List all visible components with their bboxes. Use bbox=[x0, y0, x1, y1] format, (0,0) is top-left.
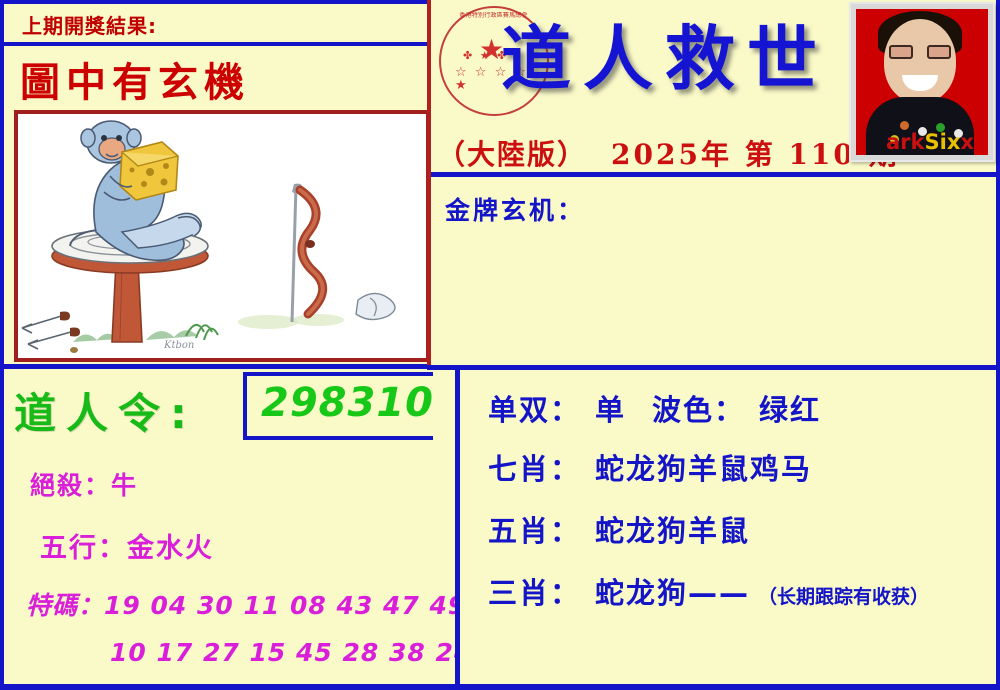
jue-sha-row: 絕殺：牛 bbox=[30, 466, 138, 502]
header-subtitle: （大陸版）2025年 第 110 期 bbox=[437, 133, 900, 172]
seven-zodiac-label: 七肖： bbox=[488, 452, 581, 486]
order-label: 道人令: bbox=[14, 380, 197, 441]
frame-right bbox=[996, 0, 1000, 690]
wu-xing-label: 五行： bbox=[40, 533, 127, 564]
prediction-row-odd-even: 单双：单波色：绿红 bbox=[488, 387, 821, 429]
special-label: 特碼： bbox=[26, 591, 104, 620]
divider-horizontal-2 bbox=[4, 364, 430, 369]
gold-tip-label: 金牌玄机： bbox=[445, 191, 585, 227]
edition-label: （大陸版） bbox=[437, 138, 587, 171]
last-draw-bar: 上期開獎結果: bbox=[4, 4, 430, 42]
three-zodiac-value: 蛇龙狗—— bbox=[595, 576, 750, 610]
monkey-mushroom-drawing: Ktbon bbox=[18, 114, 426, 358]
five-zodiac-label: 五肖： bbox=[488, 514, 581, 548]
gold-tip-panel: 金牌玄机： bbox=[431, 177, 996, 365]
three-zodiac-label: 三肖： bbox=[488, 576, 581, 610]
jue-sha-value: 牛 bbox=[111, 471, 138, 500]
odd-even-value: 单 bbox=[595, 393, 626, 427]
portrait-photo-frame: arkSixx bbox=[849, 2, 995, 162]
order-label-wrap: 道人令: bbox=[14, 380, 244, 442]
medal-dot bbox=[900, 121, 909, 130]
glasses-icon bbox=[889, 45, 951, 59]
order-value-box: 298310 bbox=[243, 372, 433, 440]
portrait-photo: arkSixx bbox=[856, 9, 988, 155]
logo-text-c: x bbox=[960, 130, 974, 154]
logo-text-b: Six bbox=[925, 130, 961, 154]
wave-color-label: 波色： bbox=[652, 393, 745, 427]
wu-xing-value: 金水火 bbox=[127, 533, 214, 564]
frame-bottom bbox=[0, 684, 1000, 690]
order-value: 298310 bbox=[261, 380, 434, 426]
three-zodiac-note: （长期跟踪有收获） bbox=[758, 586, 929, 608]
poster-title-bar: 圖中有玄機 bbox=[4, 46, 430, 108]
predictions-panel: 单双：单波色：绿红 七肖：蛇龙狗羊鼠鸡马 五肖：蛇龙狗羊鼠 三肖：蛇龙狗——（长… bbox=[460, 370, 996, 684]
cartoon-picture-frame: Ktbon bbox=[14, 110, 430, 362]
prediction-row-five-zodiac: 五肖：蛇龙狗羊鼠 bbox=[488, 508, 750, 550]
lottery-poster-page: 上期開獎結果: 圖中有玄機 bbox=[0, 0, 1000, 690]
poster-title: 圖中有玄機 bbox=[20, 50, 250, 108]
svg-text:Ktbon: Ktbon bbox=[163, 340, 194, 351]
wu-xing-row: 五行：金水火 bbox=[40, 526, 214, 565]
wave-color-value: 绿红 bbox=[759, 393, 821, 427]
prediction-row-three-zodiac: 三肖：蛇龙狗——（长期跟踪有收获） bbox=[488, 570, 929, 612]
seven-zodiac-value: 蛇龙狗羊鼠鸡马 bbox=[595, 452, 812, 486]
jue-sha-label: 絕殺： bbox=[30, 471, 111, 500]
marksix-logo: arkSixx bbox=[886, 132, 974, 153]
prediction-row-seven-zodiac: 七肖：蛇龙狗羊鼠鸡马 bbox=[488, 446, 812, 488]
logo-text-a: ark bbox=[886, 130, 925, 154]
header-title: 道人救世 bbox=[501, 24, 829, 94]
odd-even-label: 单双： bbox=[488, 393, 581, 427]
cartoon-illustration: Ktbon bbox=[18, 114, 426, 358]
last-draw-label: 上期開獎結果: bbox=[22, 10, 157, 39]
five-zodiac-value: 蛇龙狗羊鼠 bbox=[595, 514, 750, 548]
